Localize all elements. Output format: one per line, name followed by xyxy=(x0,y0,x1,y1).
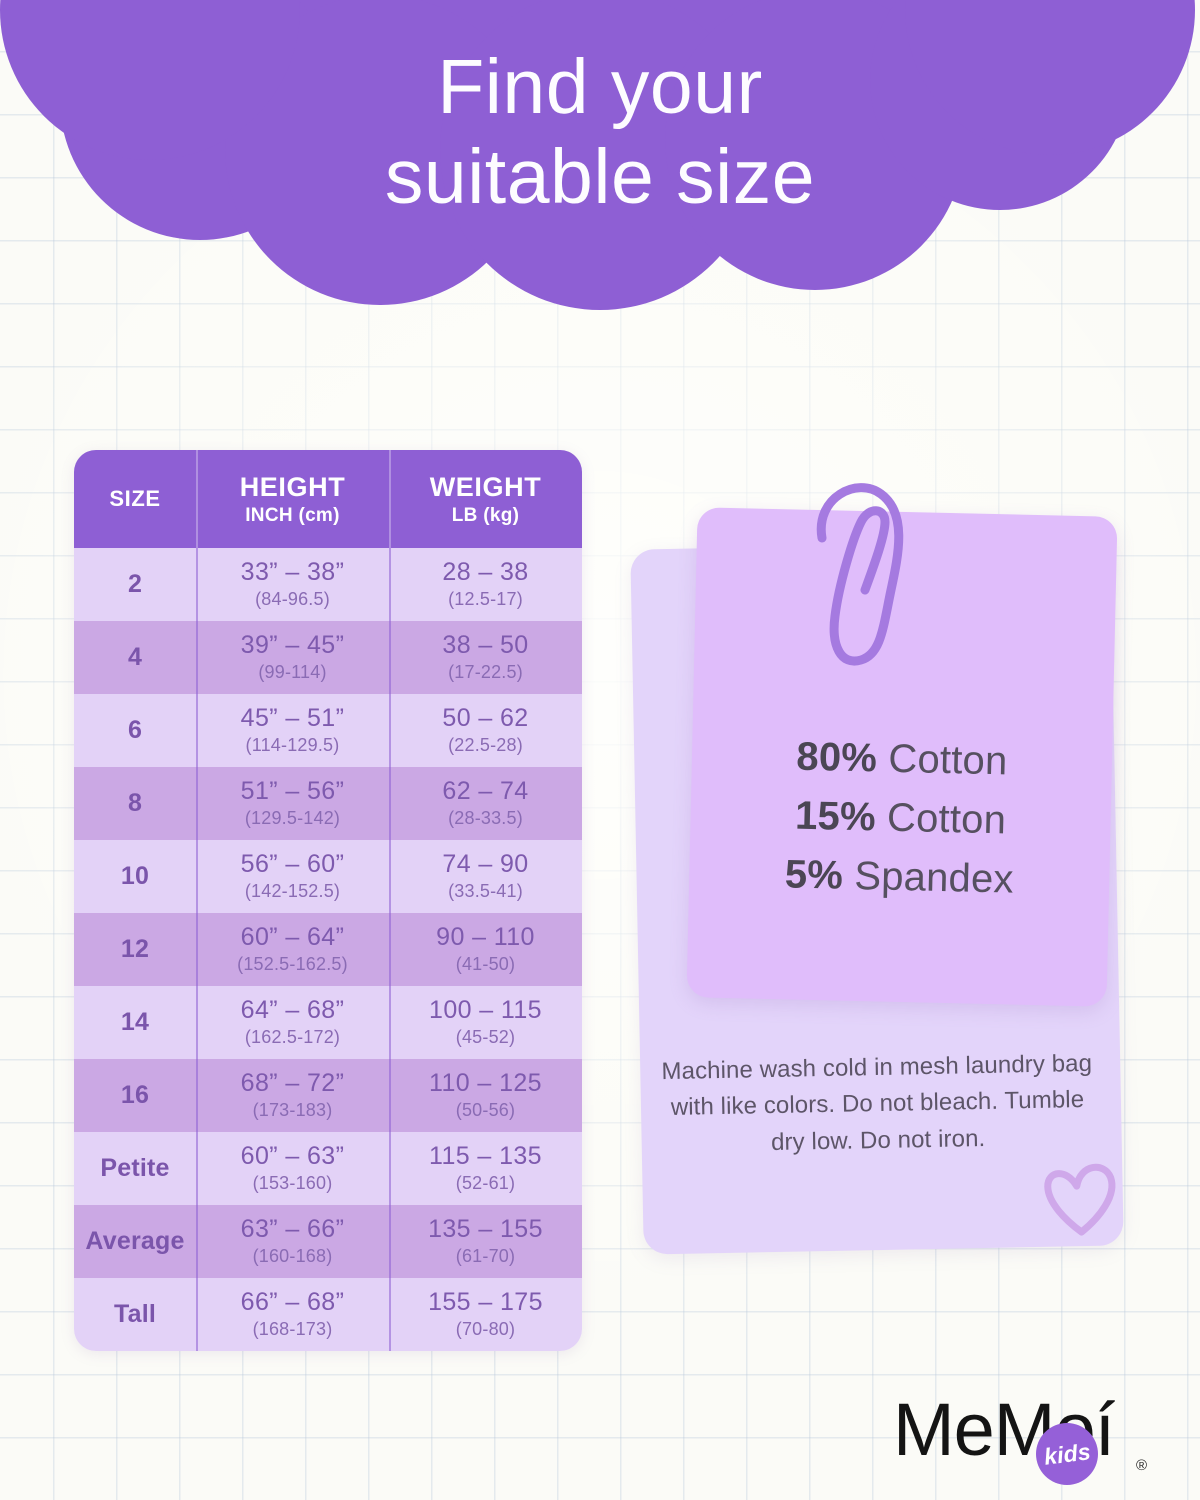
height-cm: (162.5-172) xyxy=(245,1027,340,1048)
weight-kg: (33.5-41) xyxy=(448,881,523,902)
cell-size: 6 xyxy=(74,694,196,767)
weight-kg: (22.5-28) xyxy=(448,735,523,756)
size-label: Tall xyxy=(114,1300,156,1329)
cell-weight: 62 – 74(28-33.5) xyxy=(389,767,582,840)
cell-size: 16 xyxy=(74,1059,196,1132)
height-inches: 64” – 68” xyxy=(241,997,345,1023)
table-row: 645” – 51”(114-129.5)50 – 62(22.5-28) xyxy=(74,694,582,767)
care-instructions-text: Machine wash cold in mesh laundry bag wi… xyxy=(654,1046,1101,1164)
table-row: 439” – 45”(99-114)38 – 50(17-22.5) xyxy=(74,621,582,694)
cell-weight: 100 – 115(45-52) xyxy=(389,986,582,1059)
cell-height: 60” – 64”(152.5-162.5) xyxy=(196,913,389,986)
cell-height: 56” – 60”(142-152.5) xyxy=(196,840,389,913)
heart-doodle-icon xyxy=(1034,1151,1131,1248)
cell-weight: 50 – 62(22.5-28) xyxy=(389,694,582,767)
table-row: 1260” – 64”(152.5-162.5)90 – 110(41-50) xyxy=(74,913,582,986)
column-header-size: SIZE xyxy=(74,450,196,548)
cell-size: 14 xyxy=(74,986,196,1059)
size-label: 10 xyxy=(121,862,149,891)
column-header-weight: WEIGHT LB (kg) xyxy=(389,450,582,548)
weight-lb: 90 – 110 xyxy=(436,924,535,950)
size-label: 16 xyxy=(121,1081,149,1110)
table-row: 851” – 56”(129.5-142)62 – 74(28-33.5) xyxy=(74,767,582,840)
weight-lb: 100 – 115 xyxy=(429,997,542,1023)
cell-height: 63” – 66”(160-168) xyxy=(196,1205,389,1278)
cell-height: 39” – 45”(99-114) xyxy=(196,621,389,694)
height-cm: (99-114) xyxy=(258,662,326,683)
cell-weight: 135 – 155(61-70) xyxy=(389,1205,582,1278)
weight-kg: (41-50) xyxy=(456,954,515,975)
height-cm: (173-183) xyxy=(253,1100,333,1121)
composition-material: Cotton xyxy=(877,736,1008,783)
composition-line: 80% Cotton xyxy=(691,725,1112,794)
cell-size: Tall xyxy=(74,1278,196,1351)
size-label: 12 xyxy=(121,935,149,964)
weight-lb: 74 – 90 xyxy=(442,851,528,877)
weight-lb: 62 – 74 xyxy=(442,778,528,804)
weight-kg: (28-33.5) xyxy=(448,808,523,829)
weight-kg: (50-56) xyxy=(456,1100,515,1121)
composition-percent: 80% xyxy=(796,735,878,781)
height-inches: 51” – 56” xyxy=(241,778,345,804)
cell-size: 2 xyxy=(74,548,196,621)
cell-size: 4 xyxy=(74,621,196,694)
cell-height: 60” – 63”(153-160) xyxy=(196,1132,389,1205)
height-inches: 63” – 66” xyxy=(241,1216,345,1242)
column-header-weight-unit: LB (kg) xyxy=(452,505,520,527)
table-row: 1056” – 60”(142-152.5)74 – 90(33.5-41) xyxy=(74,840,582,913)
composition-percent: 15% xyxy=(795,794,877,840)
column-header-size-label: SIZE xyxy=(109,486,160,512)
fabric-composition-list: 80% Cotton15% Cotton5% Spandex xyxy=(689,725,1113,912)
column-header-height-label: HEIGHT xyxy=(240,472,346,503)
height-inches: 56” – 60” xyxy=(241,851,345,877)
cell-weight: 28 – 38(12.5-17) xyxy=(389,548,582,621)
table-row: Tall66” – 68”(168-173)155 – 175(70-80) xyxy=(74,1278,582,1351)
height-inches: 66” – 68” xyxy=(241,1289,345,1315)
height-inches: 60” – 64” xyxy=(241,924,345,950)
size-label: 14 xyxy=(121,1008,149,1037)
cell-size: Petite xyxy=(74,1132,196,1205)
height-inches: 45” – 51” xyxy=(241,705,345,731)
size-label: 4 xyxy=(128,643,142,672)
registered-trademark-mark: ® xyxy=(1136,1457,1147,1474)
size-label: 8 xyxy=(128,789,142,818)
cell-height: 33” – 38”(84-96.5) xyxy=(196,548,389,621)
composition-line: 5% Spandex xyxy=(689,844,1110,913)
cell-size: Average xyxy=(74,1205,196,1278)
size-label: 2 xyxy=(128,570,142,599)
cell-weight: 115 – 135(52-61) xyxy=(389,1132,582,1205)
cell-size: 12 xyxy=(74,913,196,986)
table-body: 233” – 38”(84-96.5)28 – 38(12.5-17)439” … xyxy=(74,548,582,1351)
cell-height: 66” – 68”(168-173) xyxy=(196,1278,389,1351)
height-inches: 60” – 63” xyxy=(241,1143,345,1169)
cell-weight: 38 – 50(17-22.5) xyxy=(389,621,582,694)
title-line-1: Find your xyxy=(0,42,1200,132)
table-row: Average63” – 66”(160-168)135 – 155(61-70… xyxy=(74,1205,582,1278)
composition-material: Spandex xyxy=(843,854,1015,902)
weight-lb: 28 – 38 xyxy=(442,559,528,585)
table-row: 233” – 38”(84-96.5)28 – 38(12.5-17) xyxy=(74,548,582,621)
height-inches: 68” – 72” xyxy=(241,1070,345,1096)
cell-weight: 155 – 175(70-80) xyxy=(389,1278,582,1351)
composition-material: Cotton xyxy=(875,796,1006,843)
height-cm: (114-129.5) xyxy=(246,735,340,756)
cell-height: 68” – 72”(173-183) xyxy=(196,1059,389,1132)
composition-line: 15% Cotton xyxy=(690,784,1111,853)
table-header-row: SIZE HEIGHT INCH (cm) WEIGHT LB (kg) xyxy=(74,450,582,548)
weight-kg: (70-80) xyxy=(456,1319,515,1340)
column-header-height-unit: INCH (cm) xyxy=(245,505,340,527)
height-cm: (129.5-142) xyxy=(245,808,340,829)
table-row: 1668” – 72”(173-183)110 – 125(50-56) xyxy=(74,1059,582,1132)
height-inches: 39” – 45” xyxy=(241,632,345,658)
paperclip-icon xyxy=(795,478,935,678)
cell-height: 45” – 51”(114-129.5) xyxy=(196,694,389,767)
title-line-2: suitable size xyxy=(0,132,1200,222)
size-label: Average xyxy=(85,1227,184,1256)
weight-kg: (52-61) xyxy=(456,1173,515,1194)
height-cm: (153-160) xyxy=(253,1173,333,1194)
weight-lb: 115 – 135 xyxy=(429,1143,542,1169)
size-label: 6 xyxy=(128,716,142,745)
brand-logo: MeMoí kids ® xyxy=(893,1385,1158,1485)
height-cm: (84-96.5) xyxy=(255,589,330,610)
table-row: 1464” – 68”(162.5-172)100 – 115(45-52) xyxy=(74,986,582,1059)
weight-lb: 110 – 125 xyxy=(429,1070,542,1096)
height-cm: (142-152.5) xyxy=(245,881,340,902)
weight-kg: (17-22.5) xyxy=(448,662,523,683)
cell-weight: 90 – 110(41-50) xyxy=(389,913,582,986)
size-label: Petite xyxy=(100,1154,169,1183)
height-cm: (152.5-162.5) xyxy=(237,954,348,975)
column-header-height: HEIGHT INCH (cm) xyxy=(196,450,389,548)
height-cm: (160-168) xyxy=(253,1246,333,1267)
cell-size: 10 xyxy=(74,840,196,913)
cell-weight: 74 – 90(33.5-41) xyxy=(389,840,582,913)
cell-height: 64” – 68”(162.5-172) xyxy=(196,986,389,1059)
table-row: Petite60” – 63”(153-160)115 – 135(52-61) xyxy=(74,1132,582,1205)
page-title: Find your suitable size xyxy=(0,42,1200,222)
weight-lb: 155 – 175 xyxy=(428,1289,543,1315)
weight-kg: (61-70) xyxy=(456,1246,515,1267)
brand-logo-kids-badge: kids xyxy=(1036,1423,1098,1485)
size-chart-table: SIZE HEIGHT INCH (cm) WEIGHT LB (kg) 233… xyxy=(74,450,582,1351)
weight-kg: (12.5-17) xyxy=(448,589,523,610)
weight-lb: 50 – 62 xyxy=(442,705,528,731)
height-cm: (168-173) xyxy=(253,1319,333,1340)
brand-logo-kids-label: kids xyxy=(1042,1438,1092,1471)
weight-lb: 38 – 50 xyxy=(442,632,528,658)
height-inches: 33” – 38” xyxy=(241,559,345,585)
column-header-weight-label: WEIGHT xyxy=(430,472,542,503)
cell-height: 51” – 56”(129.5-142) xyxy=(196,767,389,840)
composition-percent: 5% xyxy=(784,853,843,898)
weight-lb: 135 – 155 xyxy=(428,1216,543,1242)
weight-kg: (45-52) xyxy=(456,1027,515,1048)
cell-size: 8 xyxy=(74,767,196,840)
cell-weight: 110 – 125(50-56) xyxy=(389,1059,582,1132)
